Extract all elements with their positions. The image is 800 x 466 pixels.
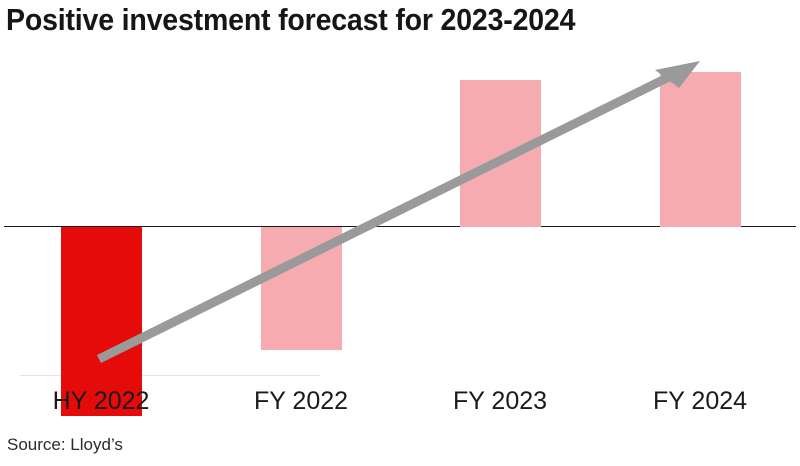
x-tick-label-hy-2022: HY 2022 bbox=[1, 386, 201, 416]
plot-area bbox=[0, 48, 800, 378]
page-title: Positive investment forecast for 2023-20… bbox=[6, 1, 733, 39]
bar-fy-2022[interactable] bbox=[261, 227, 342, 350]
x-tick-label-fy-2024: FY 2024 bbox=[600, 386, 800, 416]
category-axis-labels: HY 2022 FY 2022 FY 2023 FY 2024 bbox=[0, 386, 800, 420]
source-note: Source: Lloyd’s bbox=[7, 434, 123, 456]
chart-canvas: Positive investment forecast for 2023-20… bbox=[0, 0, 800, 466]
bar-fy-2024[interactable] bbox=[660, 72, 741, 227]
x-tick-label-fy-2022: FY 2022 bbox=[201, 386, 401, 416]
bar-fy-2023[interactable] bbox=[460, 80, 541, 227]
x-tick-label-fy-2023: FY 2023 bbox=[400, 386, 600, 416]
